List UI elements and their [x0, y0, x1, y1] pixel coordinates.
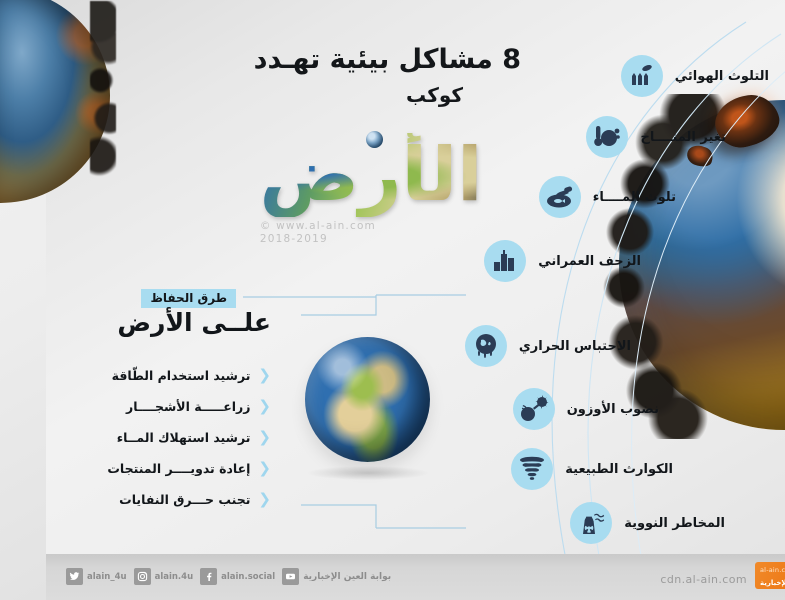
issue-item-global-warming[interactable]: الاحتباس الحراري [419, 325, 585, 367]
issue-item-urban-sprawl[interactable]: الزحف العمراني [438, 240, 595, 282]
issue-label: تغير المنــــاخ [594, 130, 680, 145]
issue-item-natural-disasters[interactable]: الكوارث الطبيعية [465, 448, 627, 490]
issue-label: الاحتباس الحراري [473, 339, 585, 354]
cdn-note: cdn.al-ain.com [614, 573, 701, 586]
social-item-facebook[interactable]: alain.social [154, 568, 229, 585]
solution-label: تجنب حـــرق النفايات [73, 492, 204, 507]
logo-bars-icon [749, 565, 767, 581]
issue-label: الزحف العمراني [492, 254, 595, 269]
factory-smoke-icon [575, 55, 617, 97]
issue-label: الكوارث الطبيعية [519, 462, 627, 477]
watermark: © www.al-ain.com 2018-2019 [214, 220, 330, 246]
issue-label: تلوث المــــاء [547, 190, 630, 205]
twitter-icon [20, 568, 37, 585]
hamza-globe-dot-icon [320, 131, 337, 148]
chevron-left-icon: ❮ [212, 430, 225, 445]
youtube-icon [236, 568, 253, 585]
solution-label: ترشيد استخدام الطّاقة [66, 368, 205, 383]
thermometer-earth-icon [540, 116, 582, 158]
title-line-1: 8 مشاكل بيئية تهـدد [145, 44, 475, 75]
title-line-2: كوكب [145, 83, 417, 107]
social-handle: alain.social [175, 572, 229, 582]
solution-label: زراعـــــة الأشجــــار [80, 399, 204, 414]
watermark-years: 2018-2019 [214, 233, 330, 246]
issue-item-nuclear-risk[interactable]: المخاطر النووية [524, 502, 679, 544]
social-handle: alain_4u [41, 572, 81, 582]
issue-item-ozone-depletion[interactable]: نضوب الأوزون [467, 388, 613, 430]
alain-logo[interactable]: al-ain.com الإخبارية [709, 562, 771, 589]
solution-item[interactable]: ❮ ترشيد استخدام الطّاقة [35, 360, 225, 391]
nuclear-plant-icon [524, 502, 566, 544]
infographic-canvas: 8 مشاكل بيئية تهـدد كوكب الأرض © www.al-… [0, 0, 785, 600]
chevron-left-icon: ❮ [212, 492, 225, 507]
issue-label: نضوب الأوزون [521, 402, 613, 417]
page-title: 8 مشاكل بيئية تهـدد كوكب [145, 44, 475, 107]
chevron-left-icon: ❮ [212, 461, 225, 476]
issue-label: المخاطر النووية [578, 516, 679, 531]
sun-rays-earth-icon [467, 388, 509, 430]
issue-item-air-pollution[interactable]: التلوث الهوائي [575, 55, 723, 97]
solution-item[interactable]: ❮ إعادة تدويــــر المنتجات [35, 453, 225, 484]
solution-label: ترشيد استهلاك المــاء [71, 430, 205, 445]
social-links: alain_4u alain.4u alain.social بوابة الع… [20, 568, 345, 585]
social-handle: بوابة العين الإخبارية [257, 572, 345, 582]
solution-item[interactable]: ❮ زراعـــــة الأشجــــار [35, 391, 225, 422]
issue-label: التلوث الهوائي [629, 69, 723, 84]
chevron-left-icon: ❮ [212, 399, 225, 414]
facebook-icon [154, 568, 171, 585]
solution-item[interactable]: ❮ ترشيد استهلاك المــاء [35, 422, 225, 453]
solutions-list: ❮ ترشيد استخدام الطّاقة ❮ زراعـــــة الأ… [35, 360, 225, 515]
issue-item-water-pollution[interactable]: تلوث المــــاء [493, 176, 630, 218]
solution-label: إعادة تدويــــر المنتجات [61, 461, 204, 476]
issue-item-climate-change[interactable]: تغير المنــــاخ [540, 116, 680, 158]
center-earth-globe [259, 337, 384, 462]
instagram-icon [88, 568, 105, 585]
solution-item[interactable]: ❮ تجنب حـــرق النفايات [35, 484, 225, 515]
city-buildings-icon [438, 240, 480, 282]
melting-earth-icon [419, 325, 461, 367]
solutions-heading: علــى الأرض [71, 308, 225, 337]
logo-domain: al-ain.com [714, 566, 750, 574]
watermark-url: © www.al-ain.com [214, 220, 330, 233]
social-item-youtube[interactable]: بوابة العين الإخبارية [236, 568, 345, 585]
social-item-twitter[interactable]: alain_4u [20, 568, 81, 585]
social-item-instagram[interactable]: alain.4u [88, 568, 148, 585]
polluted-globe-left-decoration [0, 0, 64, 203]
logo-name: الإخبارية [714, 579, 743, 587]
solutions-badge: طرق الحفاظ [95, 289, 190, 308]
social-handle: alain.4u [109, 572, 148, 582]
center-globe-shadow [262, 466, 382, 480]
chevron-left-icon: ❮ [212, 368, 225, 383]
tornado-icon [465, 448, 507, 490]
footer-bar: alain_4u alain.4u alain.social بوابة الع… [0, 554, 785, 600]
pipe-dead-fish-icon [493, 176, 535, 218]
